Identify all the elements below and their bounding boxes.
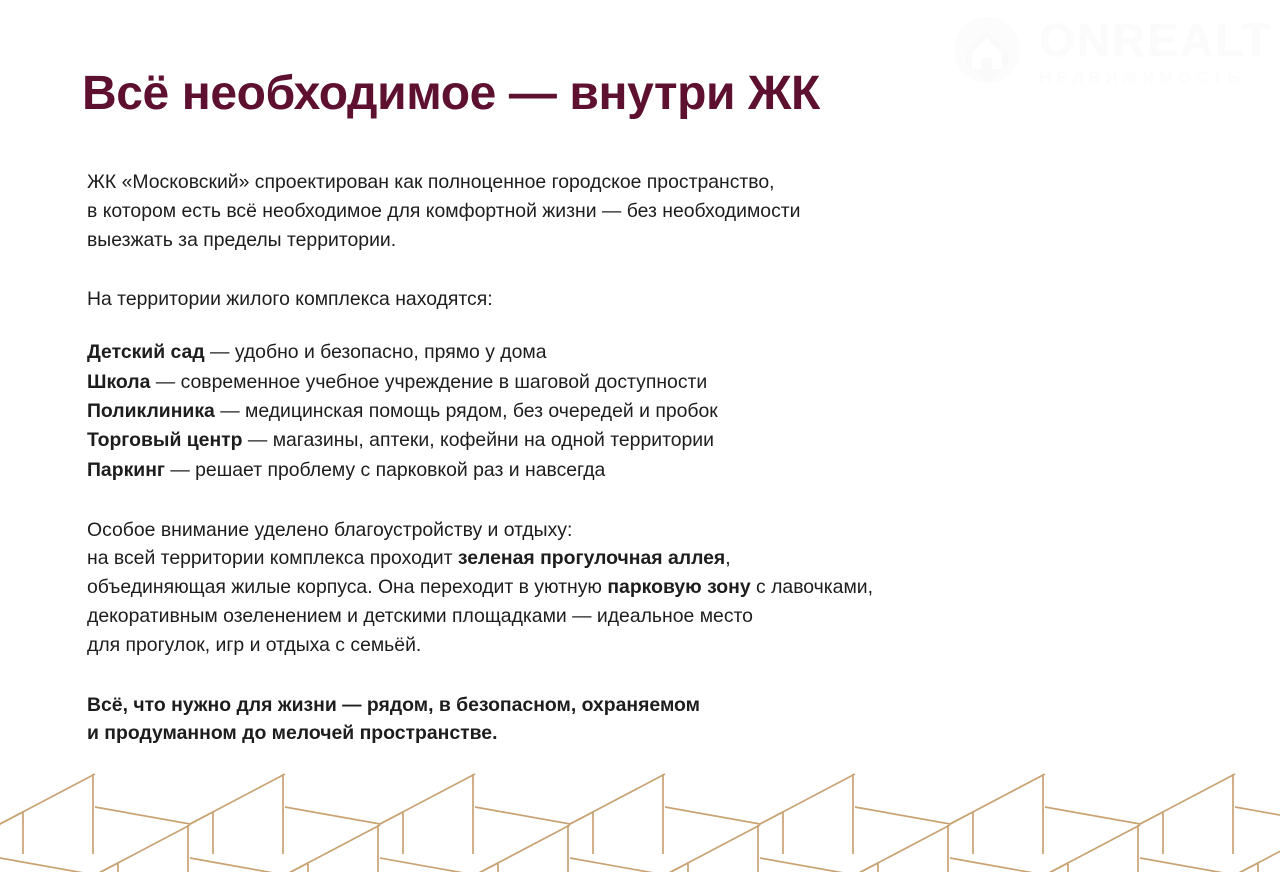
spacer: [87, 485, 1097, 516]
intro-line-2: в котором есть всё необходимое для комфо…: [87, 197, 1097, 226]
landscaping-line-4: декоративным озеленением и детскими площ…: [87, 602, 1097, 631]
list-item-term: Паркинг: [87, 459, 165, 481]
text-run: объединяющая жилые корпуса. Она переходи…: [87, 576, 607, 598]
landscaping-line-1: Особое внимание уделено благоустройству …: [87, 516, 1097, 545]
list-item: Паркинг — решает проблему с парковкой ра…: [87, 456, 1097, 485]
intro-paragraph: ЖК «Московский» спроектирован как полноц…: [87, 168, 1097, 254]
gold-chevron-border-pattern: [0, 762, 1280, 872]
list-item-desc: — удобно и безопасно, прямо у дома: [205, 341, 547, 363]
feature-list: Детский сад — удобно и безопасно, прямо …: [87, 338, 1097, 484]
spacer: [87, 314, 1097, 338]
spacer: [87, 660, 1097, 691]
landscaping-line-5: для прогулок, игр и отдыха с семьёй.: [87, 631, 1097, 660]
closing-line-2: и продуманном до мелочей пространстве.: [87, 719, 1097, 748]
slide-body: ЖК «Московский» спроектирован как полноц…: [87, 168, 1097, 748]
list-item-term: Детский сад: [87, 341, 205, 363]
list-intro: На территории жилого комплекса находятся…: [87, 285, 1097, 314]
slide: ONREALT НЕДВИЖИМОСТЬ Всё необходимое — в…: [0, 0, 1280, 872]
closing-line-1: Всё, что нужно для жизни — рядом, в безо…: [87, 691, 1097, 720]
watermark-text: ONREALT НЕДВИЖИМОСТЬ: [1039, 17, 1272, 87]
text-run: на всей территории комплекса проходит: [87, 547, 458, 569]
list-item-term: Торговый центр: [87, 429, 243, 451]
landscaping-line-2: на всей территории комплекса проходит зе…: [87, 544, 1097, 573]
text-run: ,: [725, 547, 730, 569]
list-item-term: Школа: [87, 371, 150, 393]
house-pin-circle-icon: [949, 14, 1025, 90]
list-item-desc: — современное учебное учреждение в шагов…: [150, 371, 707, 393]
watermark-brand: ONREALT: [1039, 17, 1272, 63]
list-intro-line: На территории жилого комплекса находятся…: [87, 285, 1097, 314]
list-item-desc: — решает проблему с парковкой раз и навс…: [165, 459, 605, 481]
spacer: [87, 254, 1097, 285]
intro-line-3: выезжать за пределы территории.: [87, 226, 1097, 255]
watermark-tagline: НЕДВИЖИМОСТЬ: [1039, 70, 1272, 87]
list-item-desc: — магазины, аптеки, кофейни на одной тер…: [243, 429, 714, 451]
emphasis-park-zone: парковую зону: [607, 576, 750, 598]
watermark: ONREALT НЕДВИЖИМОСТЬ: [949, 14, 1272, 90]
list-item: Торговый центр — магазины, аптеки, кофей…: [87, 426, 1097, 455]
emphasis-green-alley: зеленая прогулочная аллея: [458, 547, 725, 569]
page-title: Всё необходимое — внутри ЖК: [82, 68, 820, 120]
list-item: Детский сад — удобно и безопасно, прямо …: [87, 338, 1097, 367]
list-item: Школа — современное учебное учреждение в…: [87, 368, 1097, 397]
landscaping-paragraph: Особое внимание уделено благоустройству …: [87, 516, 1097, 660]
list-item: Поликлиника — медицинская помощь рядом, …: [87, 397, 1097, 426]
intro-line-1: ЖК «Московский» спроектирован как полноц…: [87, 168, 1097, 197]
text-run: с лавочками,: [751, 576, 873, 598]
landscaping-line-3: объединяющая жилые корпуса. Она переходи…: [87, 573, 1097, 602]
closing-paragraph: Всё, что нужно для жизни — рядом, в безо…: [87, 691, 1097, 749]
list-item-term: Поликлиника: [87, 400, 215, 422]
list-item-desc: — медицинская помощь рядом, без очередей…: [215, 400, 718, 422]
